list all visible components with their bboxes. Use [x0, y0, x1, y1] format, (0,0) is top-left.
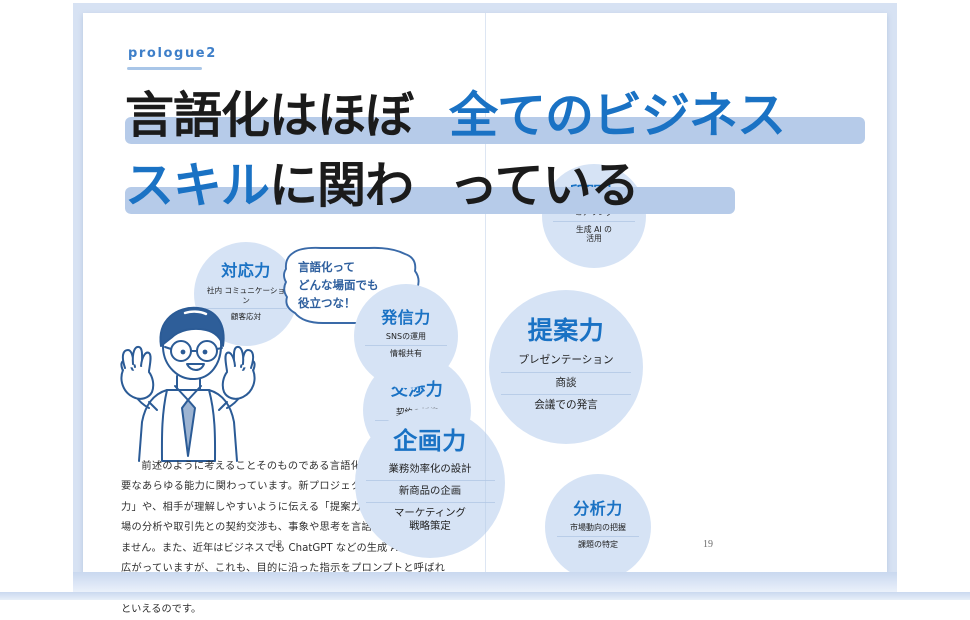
skill-item: 商談 [501, 372, 630, 394]
headline-seg-2: 全てのビジネス [449, 87, 785, 144]
headline-seg-3: スキル [125, 157, 269, 214]
skill-item: SNSの運用 [365, 329, 446, 345]
skill-bubble-teian[interactable]: 提案力 プレゼンテーション 商談 会議での発言 [489, 290, 643, 444]
businessman-illustration [105, 298, 275, 463]
skill-item-list: 業務効率化の設計 新商品の企画 マーケティング 戦略策定 [366, 459, 495, 537]
skill-title: 企画力 [393, 429, 467, 454]
skill-item: 市場動向の把握 [557, 520, 640, 536]
headline-line-1: 言語化はほぼ全てのビジネス [125, 91, 785, 140]
skill-bubble-bunseki[interactable]: 分析力 市場動向の把握 課題の特定 [545, 474, 651, 580]
skill-item-list: 市場動向の把握 課題の特定 [557, 520, 640, 553]
skill-item-list: SNSの運用 情報共有 [365, 329, 446, 362]
skill-item: 業務効率化の設計 [366, 459, 495, 480]
skill-item: 新商品の企画 [366, 480, 495, 502]
skill-bubble-kikaku[interactable]: 企画力 業務効率化の設計 新商品の企画 マーケティング 戦略策定 [355, 408, 505, 558]
skill-title: 発信力 [381, 310, 431, 327]
skill-item: プレゼンテーション [501, 350, 630, 371]
skill-item: 課題の特定 [557, 536, 640, 553]
page-number-left: 18 [272, 539, 282, 550]
prologue-kicker: prologue2 [128, 46, 217, 61]
kicker-underline [127, 67, 202, 70]
skill-item: 生成 AI の 活用 [553, 221, 634, 247]
skill-item: 情報共有 [365, 345, 446, 362]
skill-item: マーケティング 戦略策定 [366, 502, 495, 537]
skill-bubble-hasshin[interactable]: 発信力 SNSの運用 情報共有 [354, 284, 458, 388]
skill-title: 提案力 [528, 318, 605, 344]
skill-title: 分析力 [573, 501, 623, 518]
headline-seg-1: 言語化はほぼ [125, 87, 413, 144]
skill-item-list: プレゼンテーション 商談 会議での発言 [501, 350, 630, 416]
page-number-right: 19 [703, 539, 713, 550]
headline-seg-4: に関わ [269, 157, 413, 214]
skill-title: 対応力 [221, 263, 271, 280]
headline-seg-5: っている [449, 157, 639, 214]
headline-line-2: スキルに関わっている [125, 161, 639, 210]
surface-band [0, 592, 970, 600]
book-spread: prologue2 言語化はほぼ全てのビジネス スキルに関わっている 対応力 社… [73, 3, 897, 594]
page-bottom-shadow [73, 572, 897, 594]
skill-item: 会議での発言 [501, 394, 630, 416]
